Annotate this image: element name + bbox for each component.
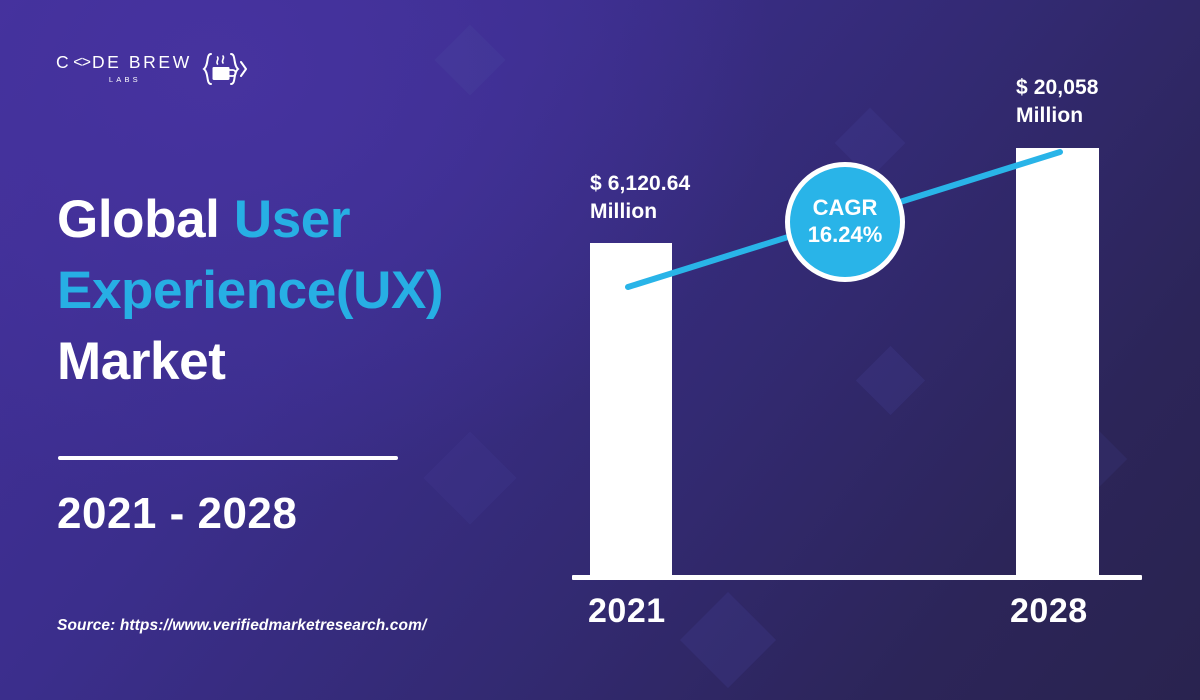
coffee-cup-in-braces-icon (201, 50, 247, 88)
source-attribution: Source: https://www.verifiedmarketresear… (57, 617, 426, 635)
background-diamond-4 (423, 431, 516, 524)
brand-logo-name: C<>DE BREW (56, 54, 192, 72)
page-title: Global User Experience(UX) Market (57, 184, 577, 397)
brand-logo-prefix: C (56, 54, 71, 72)
cagr-value: 16.24% (808, 222, 883, 249)
axis-tick-2028: 2028 (1010, 592, 1088, 631)
page-title-line-1: Global User (57, 184, 577, 255)
infographic-canvas: C<>DE BREW LABS Global User Experience(U… (0, 0, 1200, 700)
period-range: 2021 - 2028 (57, 489, 297, 539)
page-title-word-user: User (234, 190, 350, 249)
cagr-label: CAGR (813, 195, 878, 222)
page-title-line-3: Market (57, 326, 577, 397)
page-title-line-2: Experience(UX) (57, 255, 577, 326)
title-divider (58, 456, 398, 460)
brand-logo[interactable]: C<>DE BREW LABS (56, 50, 247, 88)
bar-chart: $ 6,120.64 Million $ 20,058 Million CAGR… (560, 40, 1160, 660)
cagr-badge: CAGR 16.24% (785, 162, 905, 282)
trend-line (560, 40, 1160, 660)
code-bracket-icon: <> (73, 55, 90, 71)
brand-logo-suffix: DE BREW (92, 54, 192, 72)
page-title-word-global: Global (57, 190, 234, 249)
axis-tick-2021: 2021 (588, 592, 666, 631)
background-diamond-1 (435, 25, 506, 96)
chart-axis-line (572, 575, 1142, 580)
brand-logo-wordmark: C<>DE BREW LABS (56, 54, 192, 85)
brand-logo-tagline: LABS (109, 75, 141, 84)
